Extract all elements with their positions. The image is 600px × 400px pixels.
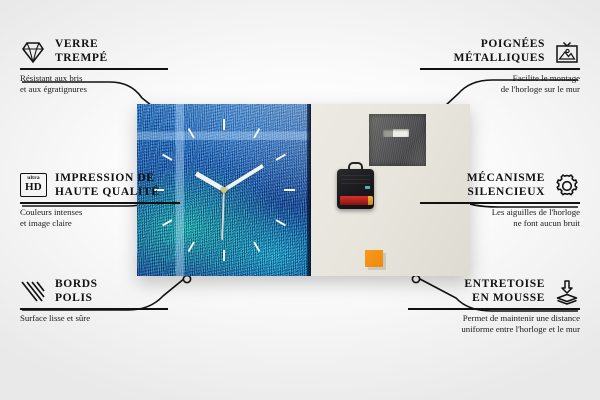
callout-rule: [20, 308, 168, 310]
callout-rule: [408, 308, 580, 310]
mechanism-loop: [348, 162, 363, 171]
hanging-frame-icon: [554, 39, 580, 65]
callout-title-line-1: ENTRETOISE: [464, 278, 545, 292]
callout-desc-line-1: Résistant aux bris: [20, 73, 195, 84]
clock-tick: [223, 119, 225, 130]
diamond-icon: [20, 39, 46, 65]
callout-title-line-2: MÉTALLIQUES: [454, 52, 545, 66]
callout-title-line-2: POLIS: [55, 292, 98, 306]
ultra-hd-icon-main-label: HD: [25, 182, 42, 193]
callout-entretoise-en-mousse: ENTRETOISE EN MOUSSE Permet de maintenir…: [380, 278, 580, 335]
callout-desc-line-2: et image claire: [20, 218, 202, 229]
callout-desc-line-1: Permet de maintenir une distance: [380, 313, 580, 324]
callout-desc-line-2: de l'horloge sur le mur: [390, 84, 580, 95]
callout-verre-trempe: VERRE TREMPÉ Résistant aux bris et aux é…: [20, 38, 195, 95]
hanger-slot: [383, 129, 409, 137]
battery: [340, 196, 371, 205]
callout-rule: [20, 202, 180, 204]
clock-pivot: [221, 187, 227, 193]
callout-title-line-2: TREMPÉ: [55, 52, 108, 66]
quartz-mechanism: [337, 169, 374, 209]
callout-title-line-1: VERRE: [55, 38, 108, 52]
callout-bords-polis: BORDS POLIS Surface lisse et sûre: [20, 278, 195, 324]
callout-desc-line-2: ne font aucun bruit: [390, 218, 580, 229]
callout-rule: [420, 202, 580, 204]
gear-icon: [554, 173, 580, 199]
clock-tick: [284, 189, 295, 191]
callout-title-line-1: MÉCANISME: [467, 172, 545, 186]
callout-desc-line-1: Couleurs intenses: [20, 207, 202, 218]
callout-desc-line-1: Facilite le montage: [390, 73, 580, 84]
callout-title-line-1: IMPRESSION DE: [55, 172, 160, 186]
arrow-onto-layers-icon: [554, 279, 580, 305]
infographic-canvas: VERRE TREMPÉ Résistant aux bris et aux é…: [0, 0, 600, 400]
callout-desc-line-2: uniforme entre l'horloge et le mur: [380, 324, 580, 335]
callout-title-line-1: BORDS: [55, 278, 98, 292]
callout-title-line-2: HAUTE QUALITÉ: [55, 186, 160, 200]
callout-title-line-1: POIGNÉES: [454, 38, 545, 52]
callout-rule: [420, 68, 580, 70]
diagonal-lines-icon: [20, 279, 46, 305]
callout-desc-line-1: Surface lisse et sûre: [20, 313, 195, 324]
clock-tick: [223, 250, 225, 261]
callout-desc-line-1: Les aiguilles de l'horloge: [390, 207, 580, 218]
callout-impression-haute-qualite: ultra HD IMPRESSION DE HAUTE QUALITÉ Cou…: [20, 172, 202, 229]
callout-title-line-2: EN MOUSSE: [464, 292, 545, 306]
foam-spacer: [365, 250, 383, 267]
metal-hanger-plate: [369, 114, 426, 166]
callout-mecanisme-silencieux: MÉCANISME SILENCIEUX Les aiguilles de l'…: [390, 172, 580, 229]
callout-rule: [20, 68, 168, 70]
callout-title-line-2: SILENCIEUX: [467, 186, 545, 200]
mechanism-marking: [365, 186, 370, 189]
ultra-hd-icon: ultra HD: [20, 173, 46, 199]
callout-poignees-metalliques: POIGNÉES MÉTALLIQUES Facilite le montage…: [390, 38, 580, 95]
callout-desc-line-2: et aux égratignures: [20, 84, 195, 95]
